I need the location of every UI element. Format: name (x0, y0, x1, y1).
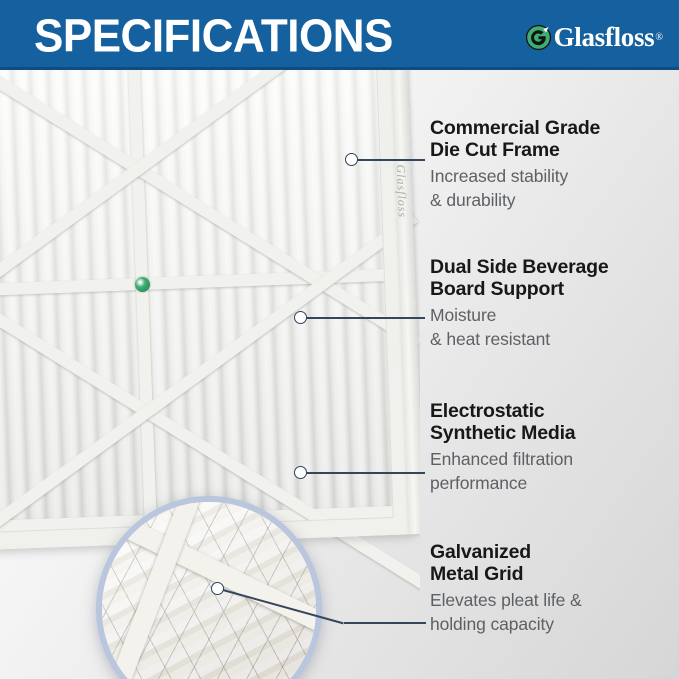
callout-dot-4 (211, 582, 224, 595)
callout-commercial-grade-die-cut-frame: Commercial Grade Die Cut Frame Increased… (430, 117, 675, 212)
brand-logo: Glasfloss ® (525, 22, 663, 52)
filter-die-cut-frame (0, 70, 411, 553)
callout-4-subtitle: Elevates pleat life & holding capacity (430, 588, 675, 636)
callout-2-subtitle: Moisture & heat resistant (430, 303, 675, 351)
callout-4-title-line2: Metal Grid (430, 563, 523, 585)
callout-3-subtitle: Enhanced filtration performance (430, 447, 675, 495)
callout-4-sub-line1: Elevates pleat life & (430, 590, 582, 610)
callout-4-title: Galvanized Metal Grid (430, 541, 675, 585)
glasfloss-g-icon (525, 24, 552, 51)
callout-galvanized-metal-grid: Galvanized Metal Grid Elevates pleat lif… (430, 541, 675, 636)
callout-line-1 (357, 159, 425, 161)
callout-4-sub-line2: holding capacity (430, 614, 554, 634)
callout-3-title-line1: Electrostatic (430, 400, 544, 422)
callout-3-title-line2: Synthetic Media (430, 422, 575, 444)
header-bar: SPECIFICATIONS Glasfloss ® (0, 0, 679, 70)
callout-4-title-line1: Galvanized (430, 541, 531, 563)
callout-2-title: Dual Side Beverage Board Support (430, 256, 675, 300)
callout-3-sub-line1: Enhanced filtration (430, 449, 573, 469)
callout-1-title: Commercial Grade Die Cut Frame (430, 117, 675, 161)
brand-wordmark: Glasfloss (554, 24, 655, 51)
callout-electrostatic-synthetic-media: Electrostatic Synthetic Media Enhanced f… (430, 400, 675, 495)
callout-1-sub-line1: Increased stability (430, 166, 568, 186)
callout-dual-side-beverage-board-support: Dual Side Beverage Board Support Moistur… (430, 256, 675, 351)
callout-line-3 (306, 472, 425, 474)
page-title: SPECIFICATIONS (34, 11, 393, 62)
specifications-infographic: SPECIFICATIONS Glasfloss ® (0, 0, 679, 679)
callout-1-title-line2: Die Cut Frame (430, 139, 560, 161)
callout-1-subtitle: Increased stability & durability (430, 164, 675, 212)
frame-printed-brand: Glasfloss (393, 164, 410, 218)
air-filter-product: Glasfloss (0, 70, 411, 553)
callout-line-4 (344, 622, 426, 624)
callout-2-sub-line1: Moisture (430, 305, 496, 325)
callout-3-title: Electrostatic Synthetic Media (430, 400, 675, 444)
callout-2-sub-line2: & heat resistant (430, 329, 550, 349)
callout-1-title-line1: Commercial Grade (430, 117, 600, 139)
callout-1-sub-line2: & durability (430, 190, 515, 210)
callout-line-2 (306, 317, 425, 319)
brand-trademark-icon: ® (655, 32, 663, 43)
magnifier-inset (96, 496, 322, 679)
callout-2-title-line2: Board Support (430, 278, 564, 300)
callout-2-title-line1: Dual Side Beverage (430, 256, 608, 278)
callout-3-sub-line2: performance (430, 473, 527, 493)
